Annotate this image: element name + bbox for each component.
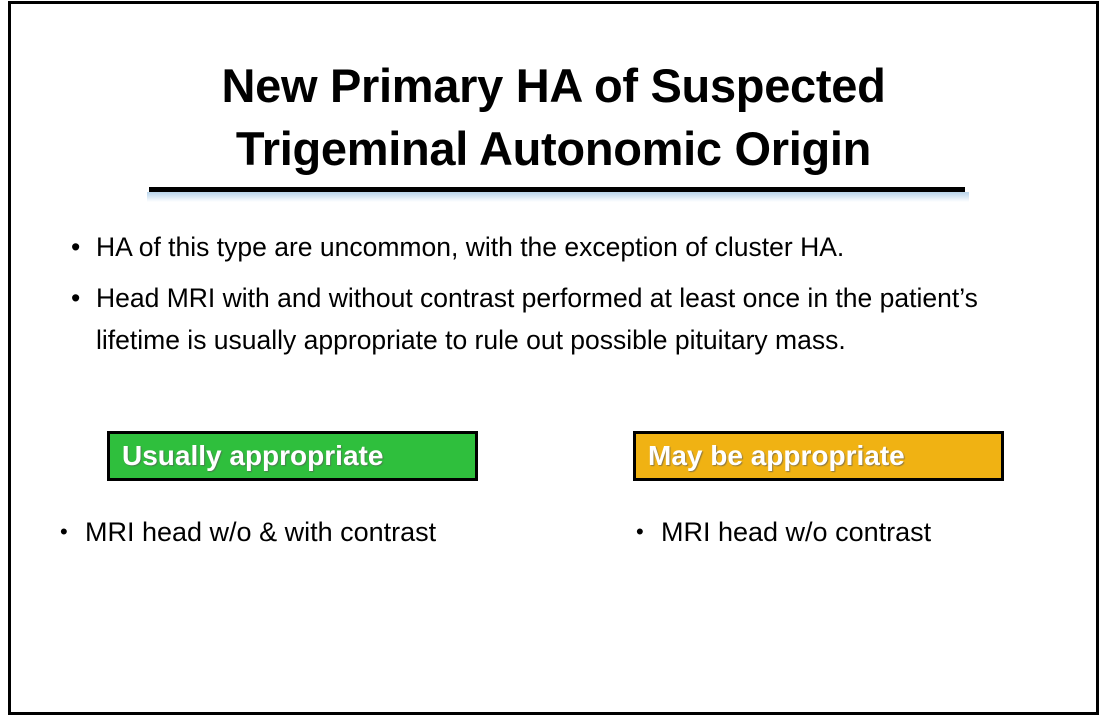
status-badge-usually-appropriate: Usually appropriate bbox=[107, 431, 478, 481]
body-bullet-text: Head MRI with and without contrast perfo… bbox=[96, 277, 1036, 361]
slide-canvas: New Primary HA of Suspected Trigeminal A… bbox=[8, 1, 1099, 715]
recommendation-item-text: MRI head w/o & with contrast bbox=[85, 517, 436, 547]
recommendation-item-usually: • MRI head w/o & with contrast bbox=[60, 514, 436, 550]
status-badge-label: Usually appropriate bbox=[122, 441, 383, 471]
bullet-point-icon: • bbox=[60, 514, 68, 550]
body-bullet-item: • HA of this type are uncommon, with the… bbox=[58, 226, 1058, 268]
bullet-point-icon: • bbox=[71, 226, 80, 268]
body-bullet-text: HA of this type are uncommon, with the e… bbox=[96, 226, 1058, 268]
body-bullet-item: • Head MRI with and without contrast per… bbox=[58, 277, 1058, 361]
bullet-point-icon: • bbox=[636, 514, 644, 550]
status-badge-label: May be appropriate bbox=[648, 441, 905, 471]
title-underline-glow bbox=[147, 192, 969, 202]
recommendation-item-text: MRI head w/o contrast bbox=[661, 517, 931, 547]
slide-title: New Primary HA of Suspected Trigeminal A… bbox=[11, 54, 1096, 180]
slide-title-line-2: Trigeminal Autonomic Origin bbox=[11, 117, 1096, 180]
slide-title-line-1: New Primary HA of Suspected bbox=[11, 54, 1096, 117]
body-bullet-list: • HA of this type are uncommon, with the… bbox=[58, 226, 1058, 365]
recommendation-item-may: • MRI head w/o contrast bbox=[636, 514, 931, 550]
bullet-point-icon: • bbox=[71, 277, 80, 319]
status-badge-may-be-appropriate: May be appropriate bbox=[633, 431, 1004, 481]
